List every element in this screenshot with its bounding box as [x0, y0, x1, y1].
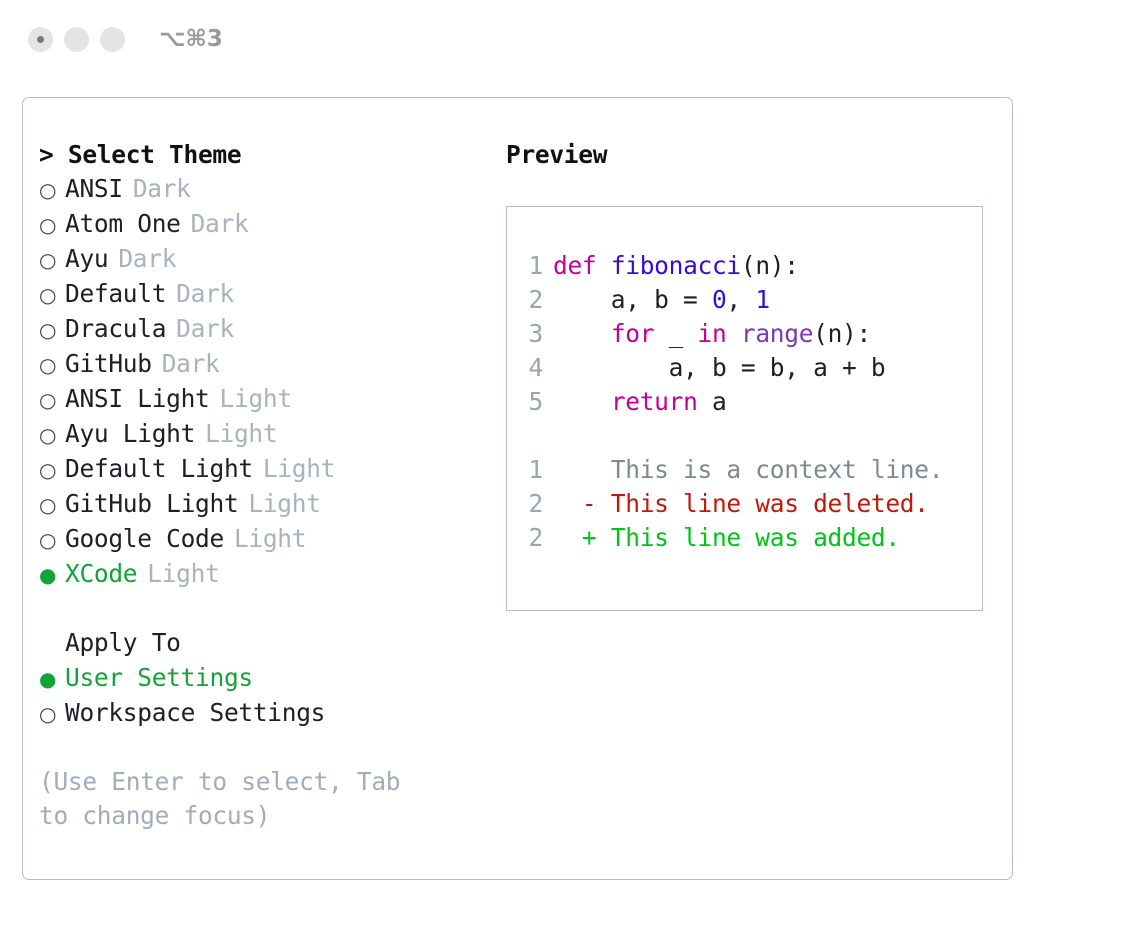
- code-line-number: 2: [507, 283, 553, 317]
- code-token-kw: return: [611, 387, 698, 416]
- radio-unselected-icon: ○: [39, 523, 65, 557]
- theme-option-default[interactable]: ○DefaultDark: [39, 277, 493, 312]
- theme-option-ayu[interactable]: ○AyuDark: [39, 242, 493, 277]
- radio-unselected-icon: ○: [39, 348, 65, 382]
- radio-unselected-icon: ○: [39, 697, 65, 731]
- code-token-pun: a, b =: [553, 285, 712, 314]
- radio-unselected-icon: ○: [39, 173, 65, 207]
- diff-line-text: - This line was deleted.: [553, 487, 929, 521]
- title-bar: ⌥⌘3: [0, 0, 1140, 78]
- preview-panel: Preview 1def fibonacci(n):2 a, b = 0, 13…: [493, 138, 1012, 833]
- code-token-num: 0: [712, 285, 726, 314]
- theme-option-name: ANSI: [65, 172, 123, 206]
- code-token-pun: [596, 251, 610, 280]
- preview-box: 1def fibonacci(n):2 a, b = 0, 13 for _ i…: [506, 206, 983, 611]
- theme-option-category: Light: [253, 452, 335, 486]
- caret-icon: >: [39, 140, 53, 169]
- theme-option-name: XCode: [65, 557, 137, 591]
- code-token-pun: ,: [726, 285, 755, 314]
- code-token-pun: (n):: [741, 251, 799, 280]
- code-token-kw: def: [553, 251, 596, 280]
- radio-selected-icon: ●: [39, 558, 65, 592]
- diff-line-add: 2 + This line was added.: [507, 521, 982, 555]
- theme-option-category: Dark: [108, 242, 176, 276]
- radio-unselected-icon: ○: [39, 418, 65, 452]
- diff-line-text: This is a context line.: [553, 453, 943, 487]
- apply-to-label: Apply To: [65, 626, 181, 660]
- code-line-number: 3: [507, 317, 553, 351]
- radio-unselected-icon: ○: [39, 278, 65, 312]
- apply-to-list: ●User Settings○Workspace Settings: [39, 661, 493, 731]
- diff-line-number: 2: [507, 521, 553, 555]
- theme-option-name: Ayu: [65, 242, 108, 276]
- radio-unselected-icon: ○: [39, 383, 65, 417]
- radio-unselected-icon: ○: [39, 243, 65, 277]
- list-spacer: [39, 592, 493, 626]
- window-dot-inner: [37, 36, 44, 43]
- content-frame: > Select Theme ○ANSIDark○Atom OneDark○Ay…: [22, 97, 1013, 880]
- theme-option-name: Default Light: [65, 452, 253, 486]
- code-token-bi: range: [741, 319, 813, 348]
- columns: > Select Theme ○ANSIDark○Atom OneDark○Ay…: [23, 98, 1012, 833]
- diff-line-number: 2: [507, 487, 553, 521]
- code-line-number: 1: [507, 249, 553, 283]
- diff-line-text: + This line was added.: [553, 521, 900, 555]
- window-dot-active-icon[interactable]: [28, 27, 53, 52]
- code-line: 4 a, b = b, a + b: [507, 351, 982, 385]
- theme-option-category: Light: [210, 382, 292, 416]
- theme-option-ayu-light[interactable]: ○Ayu LightLight: [39, 417, 493, 452]
- theme-option-category: Light: [195, 417, 277, 451]
- code-line: 2 a, b = 0, 1: [507, 283, 982, 317]
- code-line: 1def fibonacci(n):: [507, 249, 982, 283]
- theme-option-github[interactable]: ○GitHubDark: [39, 347, 493, 382]
- theme-panel-title: > Select Theme: [39, 138, 493, 172]
- apply-to-header: ○Apply To: [39, 626, 493, 661]
- theme-option-name: Google Code: [65, 522, 224, 556]
- theme-option-name: Default: [65, 277, 166, 311]
- code-token-pun: _: [654, 319, 697, 348]
- apply-to-option-name: Workspace Settings: [65, 696, 325, 730]
- code-line-text: def fibonacci(n):: [553, 249, 799, 283]
- apply-to-bullet-placeholder: ○: [39, 627, 65, 661]
- code-line-number: 5: [507, 385, 553, 419]
- code-token-num: 1: [755, 285, 769, 314]
- theme-option-category: Light: [224, 522, 306, 556]
- diff-line-number: 1: [507, 453, 553, 487]
- theme-option-default-light[interactable]: ○Default LightLight: [39, 452, 493, 487]
- theme-option-name: Ayu Light: [65, 417, 195, 451]
- code-token-fn: fibonacci: [611, 251, 741, 280]
- code-token-pun: [553, 319, 611, 348]
- code-line: 3 for _ in range(n):: [507, 317, 982, 351]
- apply-to-option-workspace-settings[interactable]: ○Workspace Settings: [39, 696, 493, 731]
- theme-option-github-light[interactable]: ○GitHub LightLight: [39, 487, 493, 522]
- preview-title: Preview: [503, 138, 1012, 172]
- theme-option-google-code[interactable]: ○Google CodeLight: [39, 522, 493, 557]
- code-line: 5 return a: [507, 385, 982, 419]
- window-controls: [28, 27, 125, 52]
- code-diff-gap: [507, 419, 982, 453]
- radio-unselected-icon: ○: [39, 453, 65, 487]
- theme-option-category: Dark: [152, 347, 220, 381]
- theme-option-atom-one[interactable]: ○Atom OneDark: [39, 207, 493, 242]
- code-sample: 1def fibonacci(n):2 a, b = 0, 13 for _ i…: [507, 249, 982, 419]
- apply-to-option-user-settings[interactable]: ●User Settings: [39, 661, 493, 696]
- radio-selected-icon: ●: [39, 662, 65, 696]
- page-title: Select Theme: [68, 140, 241, 169]
- apply-to-option-name: User Settings: [65, 661, 253, 695]
- code-token-pun: a, b = b, a + b: [553, 353, 885, 382]
- code-line-text: return a: [553, 385, 726, 419]
- code-token-kw: for: [611, 319, 654, 348]
- keyboard-hint: (Use Enter to select, Tab to change focu…: [39, 731, 439, 833]
- theme-option-ansi-light[interactable]: ○ANSI LightLight: [39, 382, 493, 417]
- theme-option-name: GitHub: [65, 347, 152, 381]
- theme-option-xcode[interactable]: ●XCodeLight: [39, 557, 493, 592]
- code-token-kw: in: [698, 319, 727, 348]
- theme-panel: > Select Theme ○ANSIDark○Atom OneDark○Ay…: [23, 138, 493, 833]
- code-token-pun: [553, 387, 611, 416]
- window-dot-2-icon[interactable]: [64, 27, 89, 52]
- theme-option-category: Dark: [166, 312, 234, 346]
- code-line-number: 4: [507, 351, 553, 385]
- code-token-pun: a: [698, 387, 727, 416]
- theme-list: ○ANSIDark○Atom OneDark○AyuDark○DefaultDa…: [39, 172, 493, 592]
- code-line-text: a, b = 0, 1: [553, 283, 770, 317]
- window-dot-3-icon[interactable]: [100, 27, 125, 52]
- code-line-text: for _ in range(n):: [553, 317, 871, 351]
- code-line-text: a, b = b, a + b: [553, 351, 885, 385]
- theme-option-category: Light: [137, 557, 219, 591]
- theme-option-category: Dark: [166, 277, 234, 311]
- theme-option-name: GitHub Light: [65, 487, 238, 521]
- theme-option-dracula[interactable]: ○DraculaDark: [39, 312, 493, 347]
- app-window: ⌥⌘3 > Select Theme ○ANSIDark○Atom OneDar…: [0, 0, 1140, 934]
- keyboard-shortcut-label: ⌥⌘3: [159, 26, 223, 52]
- code-token-pun: [726, 319, 740, 348]
- theme-option-category: Dark: [181, 207, 249, 241]
- theme-option-name: ANSI Light: [65, 382, 210, 416]
- theme-option-category: Light: [238, 487, 320, 521]
- radio-unselected-icon: ○: [39, 208, 65, 242]
- code-token-pun: (n):: [813, 319, 871, 348]
- theme-option-category: Dark: [123, 172, 191, 206]
- theme-option-ansi[interactable]: ○ANSIDark: [39, 172, 493, 207]
- diff-sample: 1 This is a context line.2 - This line w…: [507, 453, 982, 555]
- radio-unselected-icon: ○: [39, 488, 65, 522]
- theme-option-name: Dracula: [65, 312, 166, 346]
- radio-unselected-icon: ○: [39, 313, 65, 347]
- diff-line-ctx: 1 This is a context line.: [507, 453, 982, 487]
- theme-option-name: Atom One: [65, 207, 181, 241]
- diff-line-del: 2 - This line was deleted.: [507, 487, 982, 521]
